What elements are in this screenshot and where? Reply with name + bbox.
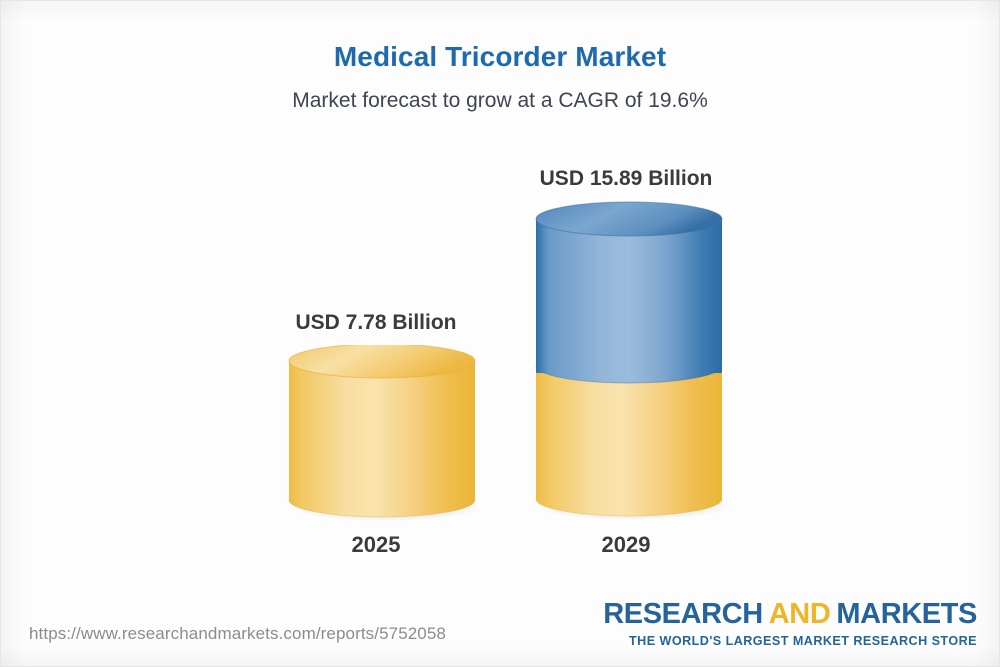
chart-subtitle: Market forecast to grow at a CAGR of 19.…	[1, 89, 999, 113]
research-and-markets-logo[interactable]: RESEARCHANDMARKETS THE WORLD'S LARGEST M…	[603, 600, 977, 648]
source-url[interactable]: https://www.researchandmarkets.com/repor…	[29, 624, 446, 644]
logo-word-markets: MARKETS	[836, 598, 977, 630]
bar-cylinder-2025	[287, 345, 477, 521]
plot-area: Medical Tricorder Market Market forecast…	[1, 1, 999, 666]
logo-wordmark: RESEARCHANDMARKETS	[603, 600, 977, 629]
category-label-2025: 2025	[256, 532, 496, 558]
logo-word-and: AND	[769, 598, 831, 630]
chart-title: Medical Tricorder Market	[1, 41, 999, 73]
logo-tagline: THE WORLD'S LARGEST MARKET RESEARCH STOR…	[603, 634, 977, 648]
bar-cylinder-2029	[534, 201, 728, 521]
chart-canvas: Medical Tricorder Market Market forecast…	[0, 0, 1000, 667]
logo-word-research: RESEARCH	[603, 598, 763, 630]
category-label-2029: 2029	[506, 532, 746, 558]
value-label-2029: USD 15.89 Billion	[506, 167, 746, 191]
value-label-2025: USD 7.78 Billion	[256, 311, 496, 335]
